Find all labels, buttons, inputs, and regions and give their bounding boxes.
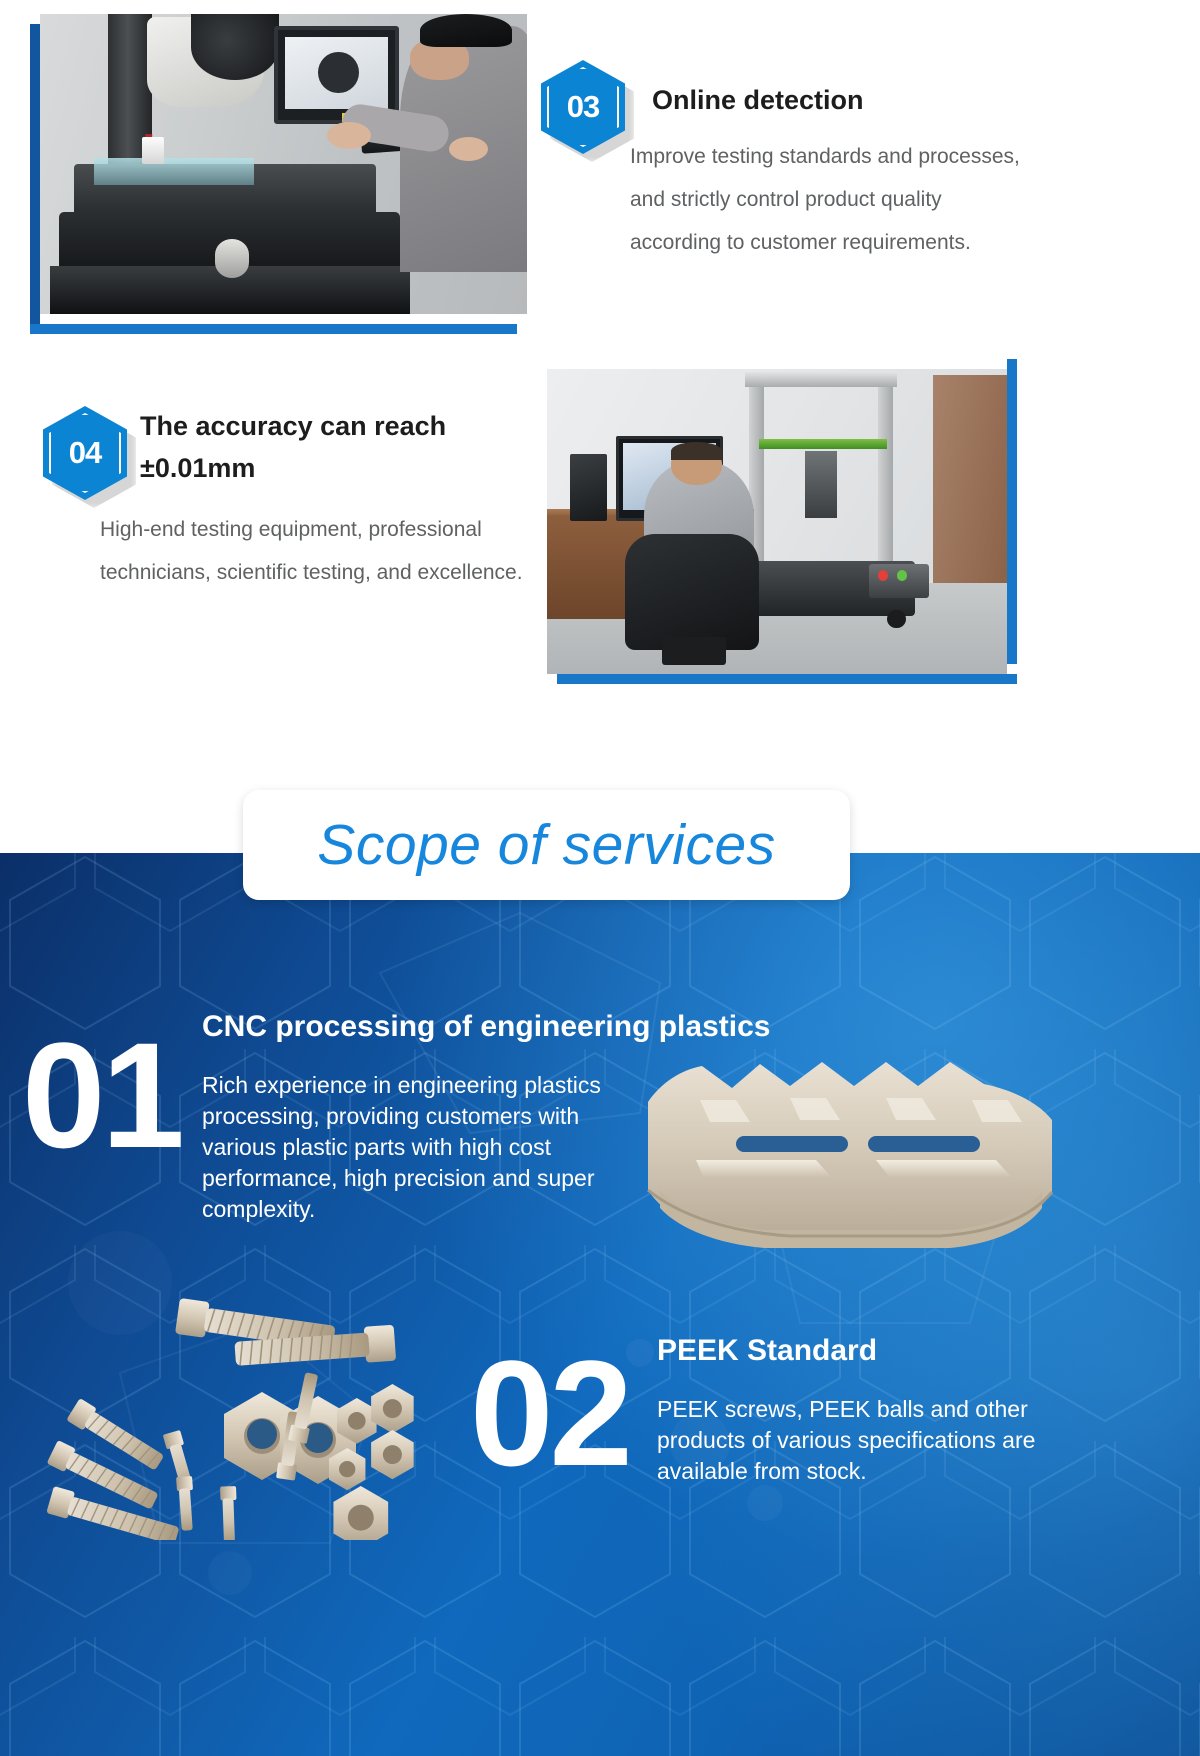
peek-screws-nuts: [40, 1280, 460, 1540]
photo-canvas: [547, 369, 1007, 674]
step-badge-04: 04: [43, 406, 127, 500]
scope-title-card: Scope of services: [243, 790, 850, 900]
scope-item-title-02: PEEK Standard: [657, 1332, 1137, 1370]
badge-number: 03: [541, 60, 625, 154]
scope-item-number-01: 01: [22, 1020, 181, 1170]
photo-accent-bottom-bar: [30, 324, 517, 334]
peek-part-illustration: [640, 1040, 1060, 1270]
scope-item-title-01: CNC processing of engineering plastics: [202, 1008, 962, 1046]
feature-body-03: Improve testing standards and processes,…: [630, 135, 1030, 264]
scope-item-body-01: Rich experience in engineering plastics …: [202, 1070, 632, 1225]
feature-title-04: The accuracy can reach ±0.01mm: [140, 405, 540, 489]
accuracy-testing-photo: [547, 369, 1007, 674]
scope-item-number-02: 02: [470, 1338, 629, 1488]
top-white-section: 03 Online detection Improve testing stan…: [0, 0, 1200, 853]
step-badge-03: 03: [541, 60, 625, 154]
photo-accent-bottom-bar: [557, 674, 1017, 684]
badge-number: 04: [43, 406, 127, 500]
photo-canvas: [40, 14, 527, 314]
feature-title-03: Online detection: [652, 79, 1072, 121]
peek-bolts-illustration: [40, 1280, 460, 1540]
scope-item-body-02: PEEK screws, PEEK balls and other produc…: [657, 1394, 1057, 1487]
peek-machined-part: [640, 1040, 1060, 1270]
photo-accent-right-bar: [1007, 359, 1017, 664]
photo-accent-left-bar: [30, 24, 40, 324]
feature-body-04: High-end testing equipment, professional…: [100, 508, 540, 594]
page-title: Scope of services: [317, 812, 775, 878]
online-detection-photo: [40, 14, 527, 314]
